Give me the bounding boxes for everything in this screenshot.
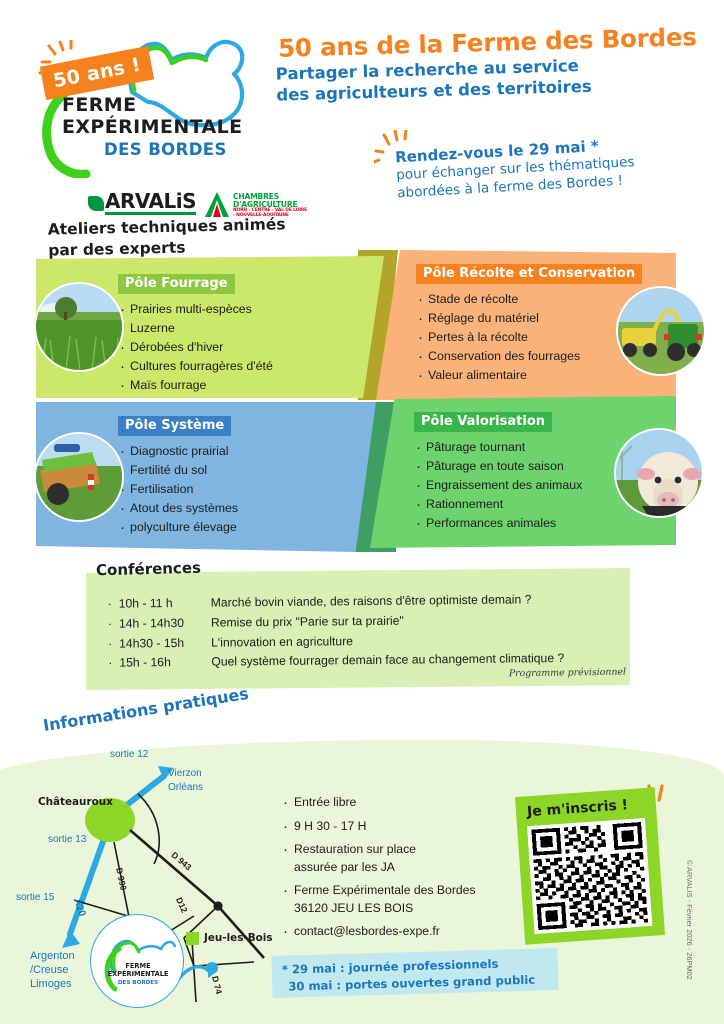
map-label-argenton: Argenton [30, 950, 75, 962]
arvalis-logo: ARVALiS [88, 191, 196, 215]
map-farm-logo: FERME EXPÉRIMENTALE DES BORDES [90, 914, 184, 1008]
dates-note-banner: * 29 mai : journée professionnels 30 mai… [271, 948, 558, 998]
conference-time: 14h - 14h30 [119, 613, 211, 634]
conference-topic: Remise du prix "Parie sur ta prairie" [211, 611, 404, 633]
list-item: Dérobées d'hiver [118, 338, 370, 357]
epandeur-photo [34, 432, 124, 522]
map-label-orleans: Orléans [168, 782, 203, 793]
pole-label-recolte: Pôle Récolte et Conservation [416, 264, 642, 284]
rendez-vous-block: Rendez-vous le 29 mai * pour échanger su… [395, 132, 698, 203]
map-label-vierzon: Vierzon [168, 768, 202, 779]
list-item: Atout des systèmes [118, 499, 368, 518]
list-item: 9 H 30 - 17 H [282, 818, 512, 836]
ensileuse-photo [616, 286, 706, 376]
arvalis-leaf-icon [88, 196, 104, 211]
bullet-icon: · [108, 614, 119, 634]
map-label-sortie-13: sortie 13 [48, 834, 86, 845]
map-label-sortie-12: sortie 12 [110, 749, 148, 760]
map-logo-line-3: DES BORDES [101, 980, 175, 986]
conference-topic: Marché bovin viande, des raisons d'être … [211, 590, 532, 613]
list-item-continuation: polyculture élevage [130, 520, 237, 534]
map-label-sortie-15: sortie 15 [16, 892, 54, 903]
pole-label-systeme: Pôle Système [118, 416, 231, 436]
list-item: Cultures fourragères d'été [118, 357, 370, 376]
list-item: Maïs fourrage [118, 376, 370, 395]
list-item: Entrée libre [282, 794, 512, 812]
list-item: Fertilisation [118, 480, 368, 499]
list-item: Restauration sur place assurée par les J… [282, 841, 512, 876]
conference-time: 15h - 16h [119, 653, 211, 674]
conference-time: 14h30 - 15h [119, 633, 211, 654]
conference-time: 10h - 11 h [119, 594, 211, 615]
pole-systeme-list: Diagnostic prairial Fertilité du sol Fer… [118, 442, 368, 537]
arvalis-wordmark: ARVALiS [105, 191, 196, 215]
logo-line-des-bordes: DES BORDES [104, 140, 272, 159]
contact-email[interactable]: contact@lesbordes-expe.fr [282, 923, 512, 941]
list-item: polyculture élevage [118, 518, 368, 537]
logo-wordmark: FERME EXPÉRIMENTALE DES BORDES [62, 94, 272, 159]
bullet-icon: · [108, 654, 119, 674]
logo-line-ferme: FERME [62, 94, 272, 116]
copyright-text: © ARVALIS - Février 2026 - 26PM02 [685, 860, 694, 1020]
ferme-des-bordes-logo: 50 ans ! FERME EXPÉRIMENTALE DES BORDES … [36, 28, 272, 198]
list-item: Valeur alimentaire [416, 366, 666, 385]
registration-qr-card[interactable]: Je m'inscris ! [515, 787, 665, 944]
map-label-limoges: Limoges [30, 978, 72, 990]
map-farm-logo-text: FERME EXPÉRIMENTALE DES BORDES [101, 963, 175, 986]
list-item: Ferme Expérimentale des Bordes 36120 JEU… [282, 882, 512, 917]
conferences-title: Conférences [96, 559, 201, 580]
conferences-list: · 10h - 11 h Marché bovin viande, des ra… [108, 589, 629, 674]
list-item: Diagnostic prairial [118, 442, 368, 461]
list-item: Prairies multi-espèces [118, 300, 370, 319]
bullet-icon: · [108, 634, 119, 654]
pole-label-valorisation: Pôle Valorisation [414, 412, 552, 432]
qr-label: Je m'inscris ! [527, 797, 629, 820]
pole-label-fourrage: Pôle Fourrage [118, 274, 235, 294]
vache-photo [614, 428, 704, 518]
list-item: Performances animales [414, 514, 670, 533]
list-item: Luzerne [118, 319, 370, 338]
map-label-chateauroux: Châteauroux [38, 796, 113, 808]
pole-fourrage-list: Prairies multi-espèces Luzerne Dérobées … [118, 300, 370, 395]
map-logo-line-2: EXPÉRIMENTALE [101, 971, 175, 979]
infos-pratiques-list: Entrée libre 9 H 30 - 17 H Restauration … [282, 794, 512, 947]
infos-pratiques-title: Informations pratiques [42, 684, 250, 735]
qr-code-image[interactable] [527, 818, 652, 934]
map-label-creuse: /Creuse [30, 964, 69, 976]
poles-grid: Pôle Fourrage Prairies multi-espèces Luz… [36, 250, 716, 555]
prairie-photo [34, 282, 124, 372]
location-map: sortie 12 sortie 13 sortie 15 Châteaurou… [18, 752, 304, 1014]
conference-topic: L'innovation en agriculture [211, 632, 353, 653]
bullet-icon: · [108, 595, 119, 615]
map-label-jeu-les-bois: Jeu-les-Bois [204, 932, 273, 944]
logo-line-experimentale: EXPÉRIMENTALE [62, 116, 272, 138]
list-item: Fertilité du sol [118, 461, 368, 480]
